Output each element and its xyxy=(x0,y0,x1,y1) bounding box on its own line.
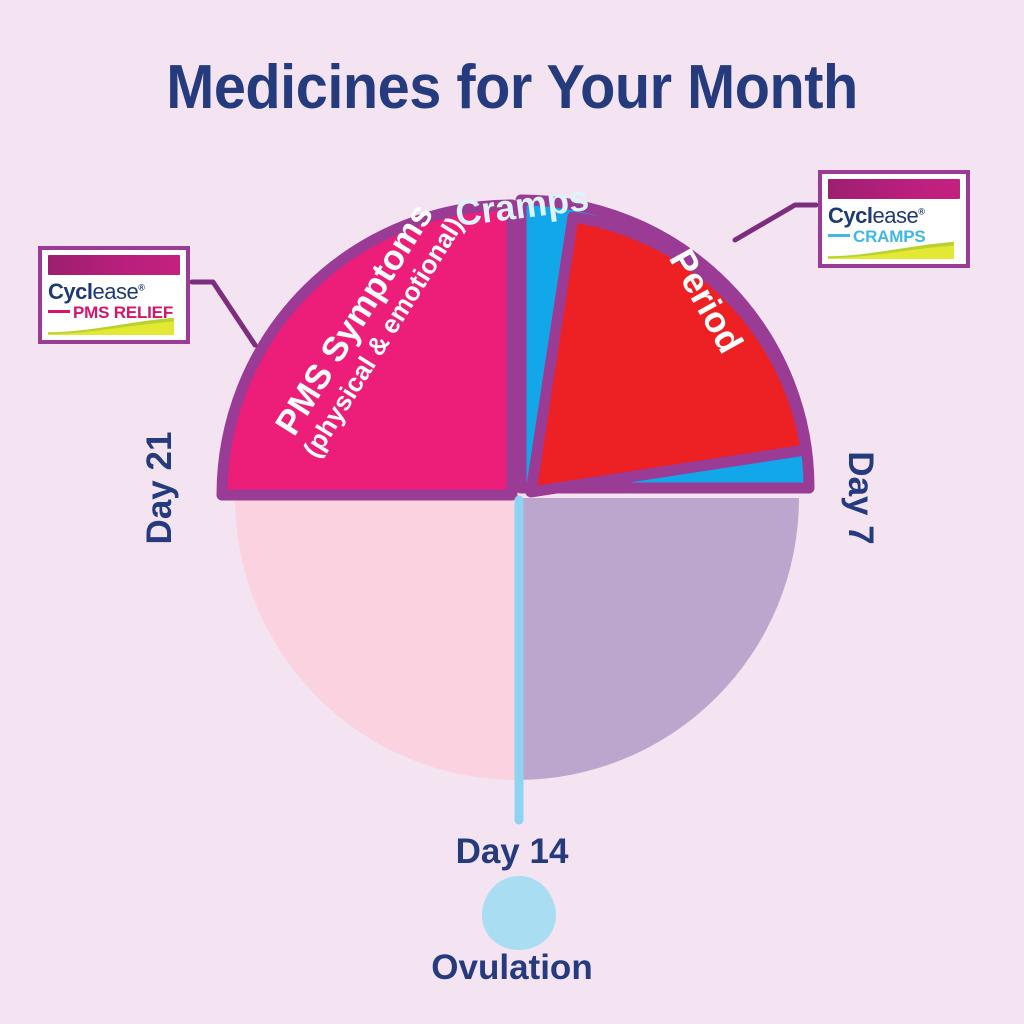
brand-bar-icon xyxy=(828,179,960,199)
dash-icon xyxy=(828,234,850,237)
brand-suffix: ease xyxy=(92,279,138,304)
registered-mark-icon: ® xyxy=(918,207,924,217)
brand-name-pms: Cyclease® xyxy=(48,281,180,303)
brand-prefix: Cycl xyxy=(828,203,872,228)
product-box-pms-relief[interactable]: Cyclease® PMS RELIEF xyxy=(38,246,190,344)
connector-line-pms xyxy=(192,282,255,345)
pie-slice-pms-group xyxy=(222,205,512,495)
product-box-cramps[interactable]: Cyclease® CRAMPS xyxy=(818,170,970,268)
registered-mark-icon: ® xyxy=(138,283,144,293)
day-marker-14: Day 14 xyxy=(0,832,1024,872)
brand-prefix: Cycl xyxy=(48,279,92,304)
pie-slice-follicular-left xyxy=(235,498,517,780)
brand-suffix: ease xyxy=(872,203,918,228)
brand-swoosh-icon xyxy=(48,317,174,335)
pie-slice-period-group xyxy=(531,217,806,492)
connector-line-cramps xyxy=(735,205,816,240)
ovulation-label: Ovulation xyxy=(0,948,1024,988)
infographic-canvas: Medicines for Your Month Cramps Period xyxy=(0,0,1024,1024)
day-marker-7: Day 7 xyxy=(840,438,880,558)
pie-slice-period xyxy=(531,217,806,492)
pie-slice-luteal-right xyxy=(517,498,799,780)
day-marker-21: Day 21 xyxy=(140,428,180,548)
product-box-inner: Cyclease® CRAMPS xyxy=(822,174,966,264)
pie-slice-pms xyxy=(222,205,512,495)
brand-swoosh-icon xyxy=(828,241,954,259)
dash-icon xyxy=(48,310,70,313)
brand-name-cramps: Cyclease® xyxy=(828,205,960,227)
brand-bar-icon xyxy=(48,255,180,275)
ovulation-egg-icon xyxy=(482,876,556,950)
product-box-inner: Cyclease® PMS RELIEF xyxy=(42,250,186,340)
